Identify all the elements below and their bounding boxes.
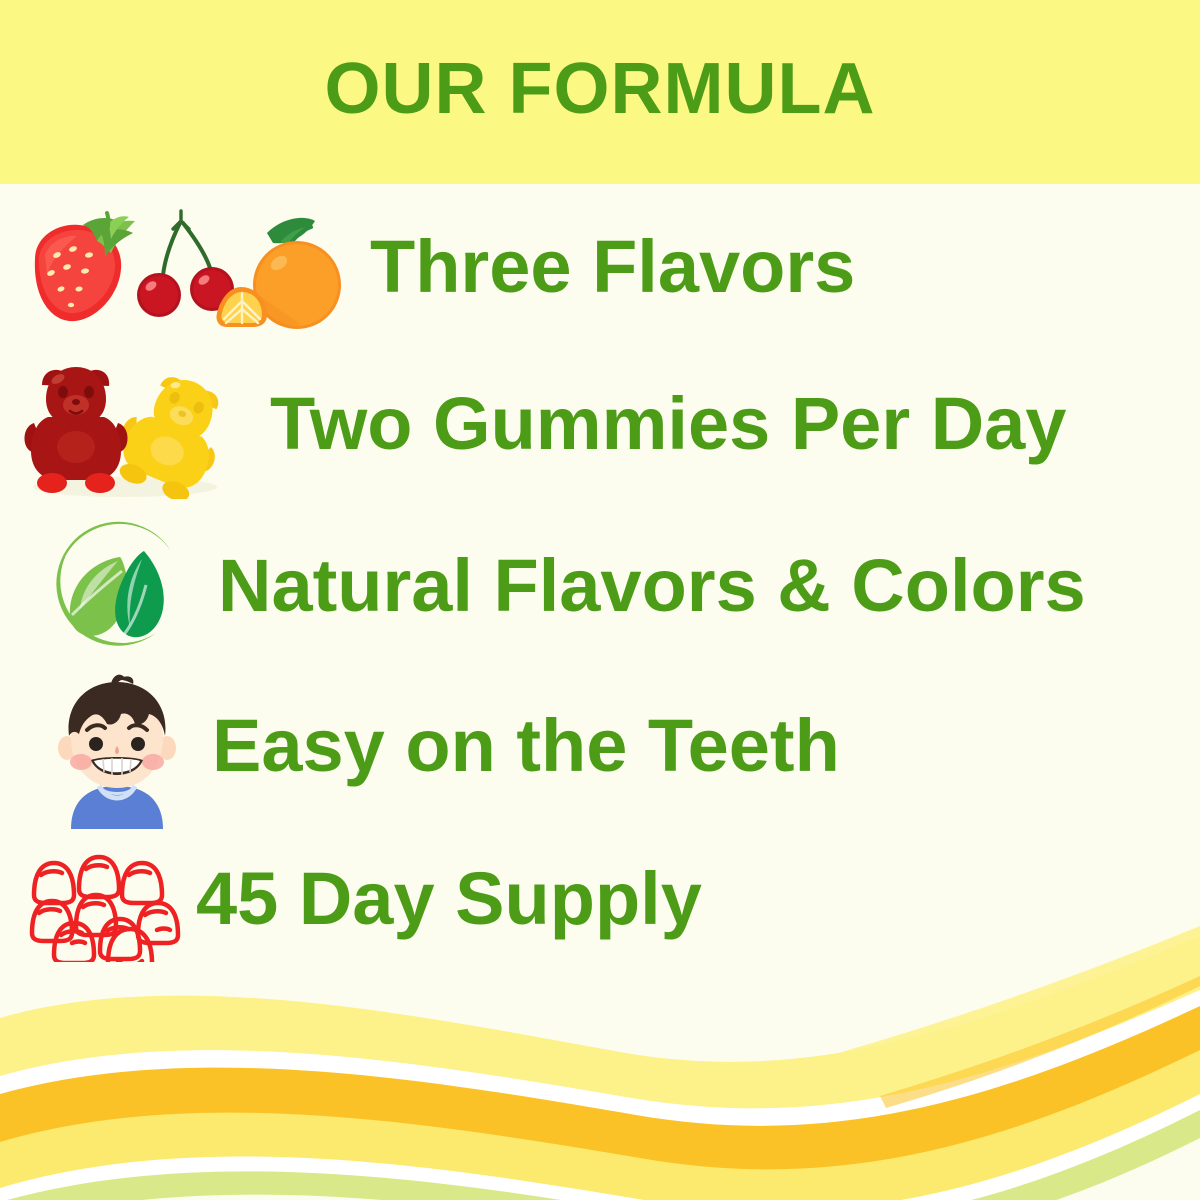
feature-row: Natural Flavors & Colors [0,506,1200,666]
feature-list: Three Flavors [0,184,1200,944]
cherries-icon [137,211,234,317]
feature-row: Easy on the Teeth [0,662,1200,830]
feature-row: Three Flavors [0,192,1200,342]
page-title: OUR FORMULA [325,53,876,131]
fruit-trio-icon [0,197,370,337]
gummy-bears-icon [0,347,270,502]
feature-label: Two Gummies Per Day [270,387,1066,461]
header-band: OUR FORMULA [0,0,1200,184]
red-gummy-bear [24,367,127,493]
strawberry-icon [35,213,135,321]
feature-label: Three Flavors [370,230,855,304]
product-feature-infographic: OUR FORMULA [0,0,1200,1200]
eco-leaf-circle-icon [18,509,218,664]
feature-row: Two Gummies Per Day [0,344,1200,504]
feature-label: Easy on the Teeth [212,709,840,783]
smiling-child-icon [22,664,212,829]
feature-label: Natural Flavors & Colors [218,549,1086,623]
decorative-wave-footer [0,900,1200,1200]
orange-icon [216,218,341,329]
